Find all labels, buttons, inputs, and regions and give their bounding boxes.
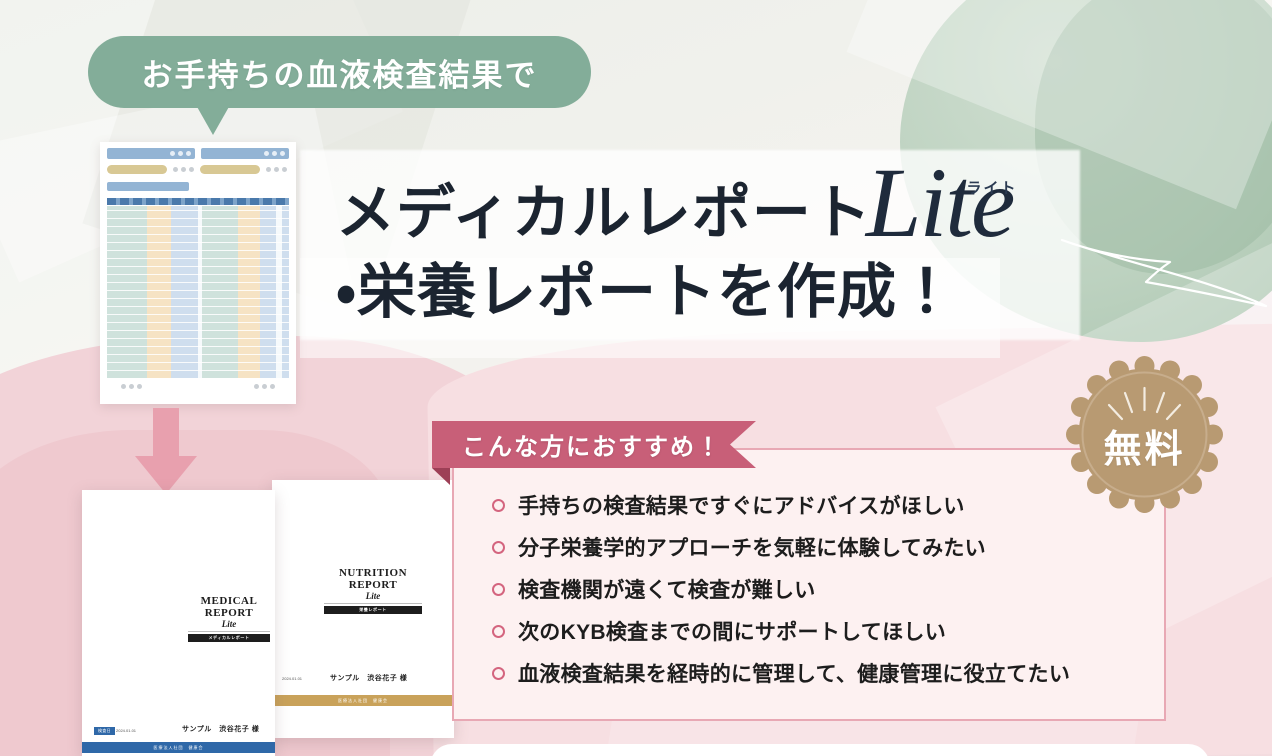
recommend-ribbon-label: こんな方におすすめ！: [462, 427, 722, 462]
medical-report-patient-name: サンプル 渋谷花子 様: [182, 724, 259, 734]
sheet-bar: [201, 148, 289, 159]
nutrition-report-title-line1: NUTRITION: [324, 568, 422, 580]
next-section-top-edge: [430, 744, 1210, 756]
sheet-header-bars: [107, 148, 289, 159]
medical-report-code: 2024.01.01: [116, 728, 136, 733]
medical-report-title-line2: REPORT: [188, 608, 270, 620]
list-item: 検査機関が遠くて検査が難しい: [492, 568, 1164, 610]
recommend-item-text: 次のKYB検査までの間にサポートしてほしい: [518, 616, 946, 646]
medical-report-title-line1: MEDICAL: [188, 596, 270, 608]
sheet-row-lines: [107, 210, 289, 382]
nutrition-report-tag: 栄養レポート: [324, 606, 422, 614]
sheet-bar: [107, 148, 195, 159]
sheet-pill: [200, 165, 260, 174]
hero-headline-ruby: ライト: [966, 177, 1017, 198]
recommend-panel: 手持ちの検査結果ですぐにアドバイスがほしい 分子栄養学的アプローチを気軽に体験し…: [452, 448, 1166, 721]
medical-report-footer-text: 医療法人社団 健康会: [154, 745, 204, 751]
medical-report-footer-bar: 医療法人社団 健康会: [82, 742, 275, 753]
sheet-footer-dots: [107, 384, 289, 389]
circle-bullet-icon: [492, 583, 505, 596]
list-item: 分子栄養学的アプローチを気軽に体験してみたい: [492, 526, 1164, 568]
nutrition-report-title-line2: REPORT: [324, 580, 422, 592]
recommend-item-text: 手持ちの検査結果ですぐにアドバイスがほしい: [518, 490, 965, 520]
circle-bullet-icon: [492, 541, 505, 554]
list-item: 血液検査結果を経時的に管理して、健康管理に役立てたい: [492, 652, 1164, 694]
hero-speech-bubble: お手持ちの血液検査結果で: [88, 36, 591, 108]
circle-bullet-icon: [492, 499, 505, 512]
recommend-item-text: 検査機関が遠くて検査が難しい: [518, 574, 816, 604]
circle-bullet-icon: [492, 625, 505, 638]
circle-bullet-icon: [492, 667, 505, 680]
hero-speech-bubble-tail: [196, 105, 230, 135]
list-item: 次のKYB検査までの間にサポートしてほしい: [492, 610, 1164, 652]
medical-report-chip: 検査日: [94, 727, 115, 735]
recommend-item-text: 血液検査結果を経時的に管理して、健康管理に役立てたい: [518, 658, 1070, 688]
recommend-item-text: 分子栄養学的アプローチを気軽に体験してみたい: [518, 532, 986, 562]
nutrition-report-footer-bar: 医療法人社団 健康会: [272, 695, 454, 706]
hero-headline-line2: ・栄養レポートを作成！: [336, 263, 1156, 322]
sheet-pill: [107, 165, 167, 174]
arrow-down-icon: [133, 408, 199, 494]
hero-headline-main: メディカルレポート: [336, 184, 872, 243]
nutrition-report-code: 2024.01.01: [282, 676, 302, 681]
medical-report-cover: MEDICAL REPORT Lite メディカルレポート 検査日 2024.0…: [82, 490, 275, 756]
nutrition-report-cover: NUTRITION REPORT Lite 栄養レポート 2024.01.01 …: [272, 480, 454, 738]
nutrition-report-footer-text: 医療法人社団 健康会: [338, 698, 388, 704]
hero-section: お手持ちの血液検査結果で: [0, 0, 1272, 756]
sheet-pill-row: [107, 165, 289, 174]
hero-headline: メディカルレポート Lite ライト ・栄養レポートを作成！: [336, 163, 1156, 322]
nutrition-report-lite-mark: Lite: [324, 592, 422, 601]
sheet-lead-bar: [107, 182, 189, 191]
hero-speech-bubble-text: お手持ちの血液検査結果で: [142, 50, 538, 95]
medical-report-tag: メディカルレポート: [188, 634, 270, 642]
medical-report-lite-mark: Lite: [188, 620, 270, 629]
recommend-ribbon: こんな方におすすめ！: [432, 421, 756, 468]
free-badge-label: 無料: [1063, 353, 1226, 516]
sheet-table-header: [107, 198, 289, 205]
nutrition-report-patient-name: サンプル 渋谷花子 様: [330, 673, 407, 683]
free-badge: 無料: [1063, 353, 1226, 516]
hero-headline-lite: Lite: [866, 147, 1014, 258]
